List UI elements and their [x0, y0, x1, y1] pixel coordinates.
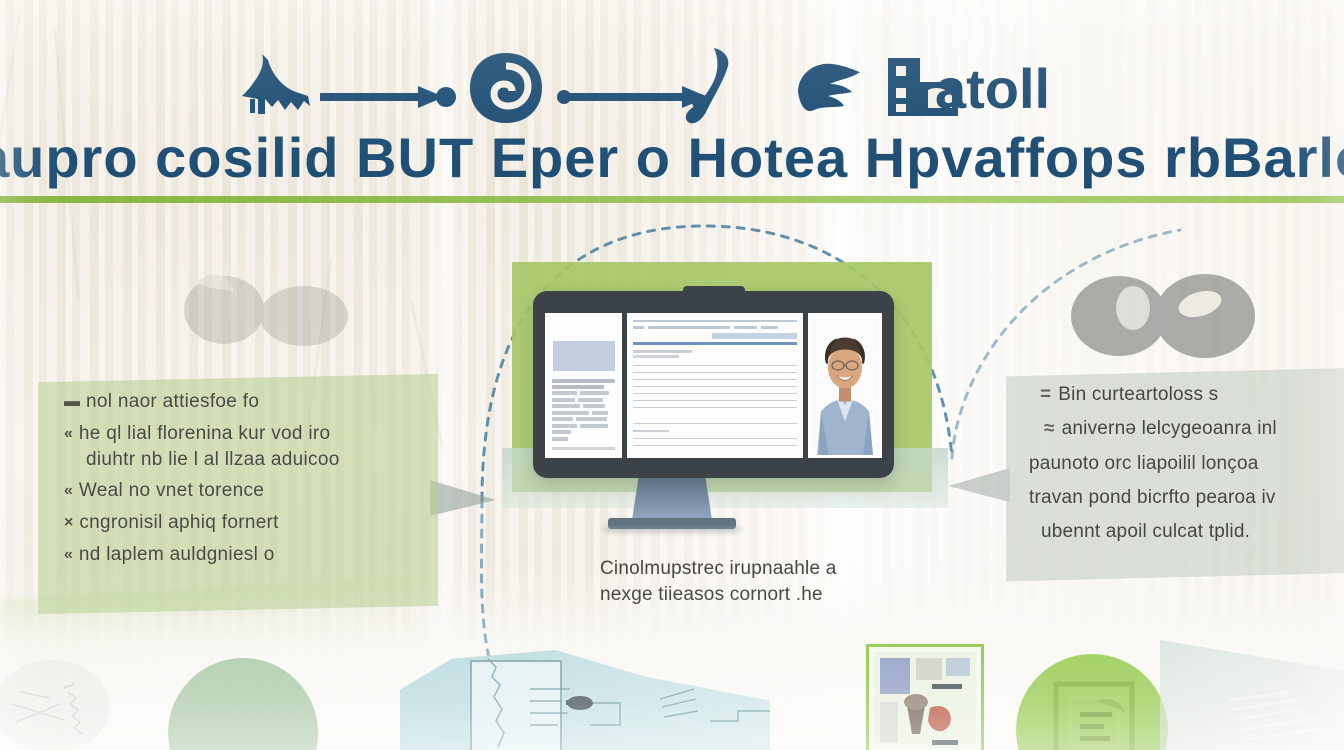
- header-badge-text: atoll: [935, 56, 1050, 121]
- hand-gesture-icon: [790, 58, 864, 122]
- sidebar-row[interactable]: [552, 398, 615, 402]
- document-note: [633, 430, 669, 432]
- left-decorative-blobs: [172, 262, 362, 354]
- sidebar-row[interactable]: [552, 424, 615, 428]
- document-text-line: [633, 386, 797, 387]
- circle-swirl-icon: [466, 50, 546, 126]
- list-item: « Weal no vnet torence: [64, 479, 447, 503]
- bullet-label: travan pond bicrfto pearoa iv: [1029, 485, 1276, 510]
- caption-line-1: Cinolmupstrec irupnaahle a: [600, 556, 920, 582]
- list-item: « nd laplem auldgniesl o: [64, 543, 447, 567]
- sidebar-row[interactable]: [552, 417, 615, 421]
- sketch-illustration: [0, 648, 130, 750]
- portrait-image: [811, 316, 879, 455]
- bullet-marker: ▬: [64, 394, 80, 410]
- sidebar-row[interactable]: [552, 404, 615, 408]
- monitor: [533, 291, 894, 478]
- sidebar-row[interactable]: [552, 430, 615, 434]
- list-item: × cngronisil aphiq fornert: [64, 511, 447, 535]
- document-highlight-band: [712, 333, 797, 339]
- hook-icon: [680, 46, 740, 126]
- document-subtitle: [633, 350, 692, 353]
- bullet-label: nd laplem auldgniesl o: [79, 543, 275, 567]
- left-info-card: ▬ nol naor attiesfoe fo « he ql lial flo…: [52, 386, 447, 604]
- document-accent-rule: [633, 342, 797, 345]
- monitor-caption: Cinolmupstrec irupnaahle a nexge tiieaso…: [600, 556, 920, 607]
- document-text-line: [633, 445, 797, 446]
- monitor-screen: [545, 313, 882, 458]
- bullet-marker: =: [1040, 382, 1051, 407]
- bullet-label: anivernə lelcygeoanra inl: [1062, 416, 1277, 441]
- sidebar-thumbnail: [553, 341, 615, 371]
- list-item: ubennt apoil culcat tplid.: [1022, 519, 1344, 544]
- bullet-label: Bin curteartoloss s: [1058, 382, 1218, 407]
- green-circle-square-icon: [1044, 672, 1144, 750]
- document-text-line: [633, 393, 797, 394]
- list-item: travan pond bicrfto pearoa iv: [1022, 485, 1344, 510]
- right-info-card: = Bin curteartoloss s ≈ anivernə lelcyge…: [1022, 382, 1344, 577]
- document-text-line: [633, 372, 797, 373]
- bullet-marker: «: [64, 547, 73, 563]
- infographic-stage: atoll aupro cosilid BUT Eper o Hotea Hpv…: [0, 0, 1344, 750]
- screen-sidebar[interactable]: [545, 313, 622, 458]
- bullet-label: Weal no vnet torence: [79, 479, 264, 503]
- arrow-right-icon: [318, 84, 458, 110]
- bullet-label: diuhtr nb lie l al llzaa aduicoo: [86, 448, 340, 472]
- list-item: ≈ anivernə lelcygeoanra inl: [1022, 416, 1344, 441]
- header: atoll aupro cosilid BUT Eper o Hotea Hpv…: [0, 0, 1344, 200]
- bullet-label: ubennt apoil culcat tplid.: [1041, 519, 1250, 544]
- bullet-marker: ≈: [1044, 416, 1055, 441]
- list-item: ▬ nol naor attiesfoe fo: [64, 390, 447, 414]
- document-text-line: [633, 438, 797, 439]
- sidebar-row[interactable]: [552, 437, 615, 441]
- document-text-line: [633, 379, 797, 380]
- screen-document[interactable]: [627, 313, 803, 458]
- hay-lines-decoration: [1230, 690, 1340, 748]
- header-divider: [0, 196, 1344, 203]
- sidebar-row[interactable]: [552, 391, 615, 395]
- sidebar-heading-line: [552, 379, 615, 383]
- monitor-notch: [683, 286, 745, 296]
- sidebar-row[interactable]: [552, 411, 615, 415]
- document-header-row: [633, 326, 797, 329]
- bullet-marker: «: [64, 483, 73, 499]
- list-item: = Bin curteartoloss s: [1022, 382, 1344, 407]
- monitor-stand-base: [608, 518, 736, 529]
- sidebar-footer-line: [552, 447, 615, 450]
- document-text-line: [633, 365, 797, 366]
- sidebar-heading-line: [552, 385, 604, 389]
- right-decorative-blobs: [1063, 268, 1263, 360]
- document-text-line: [633, 407, 797, 408]
- list-item: « he ql lial florenina kur vod iro: [64, 422, 447, 446]
- header-icon-row: atoll: [0, 22, 1344, 117]
- bullet-label: he ql lial florenina kur vod iro: [79, 422, 330, 446]
- page-title: aupro cosilid BUT Eper o Hotea Hpvaffops…: [0, 130, 1344, 186]
- document-subtitle: [633, 355, 679, 358]
- bullet-label: cngronisil aphiq fornert: [79, 511, 278, 535]
- bullet-marker: «: [64, 426, 73, 442]
- document-spacer: [633, 414, 797, 423]
- screen-portrait[interactable]: [808, 313, 882, 458]
- green-card-contents: [870, 648, 980, 750]
- document-top-rule: [633, 320, 797, 322]
- caption-line-2: nexge tiieasos cornort .he: [600, 582, 920, 608]
- document-text-line: [633, 423, 797, 424]
- list-item: diuhtr nb lie l al llzaa aduicoo: [64, 448, 447, 472]
- document-text-line: [633, 400, 797, 401]
- list-item: paunoto orc liapoilil lonçoa: [1022, 451, 1344, 476]
- bullet-label: paunoto orc liapoilil lonçoa: [1029, 451, 1259, 476]
- monitor-stand-neck: [632, 478, 712, 520]
- teal-diagram-lines: [470, 655, 780, 750]
- bullet-label: nol naor attiesfoe fo: [86, 390, 259, 414]
- bullet-marker: ×: [64, 515, 73, 531]
